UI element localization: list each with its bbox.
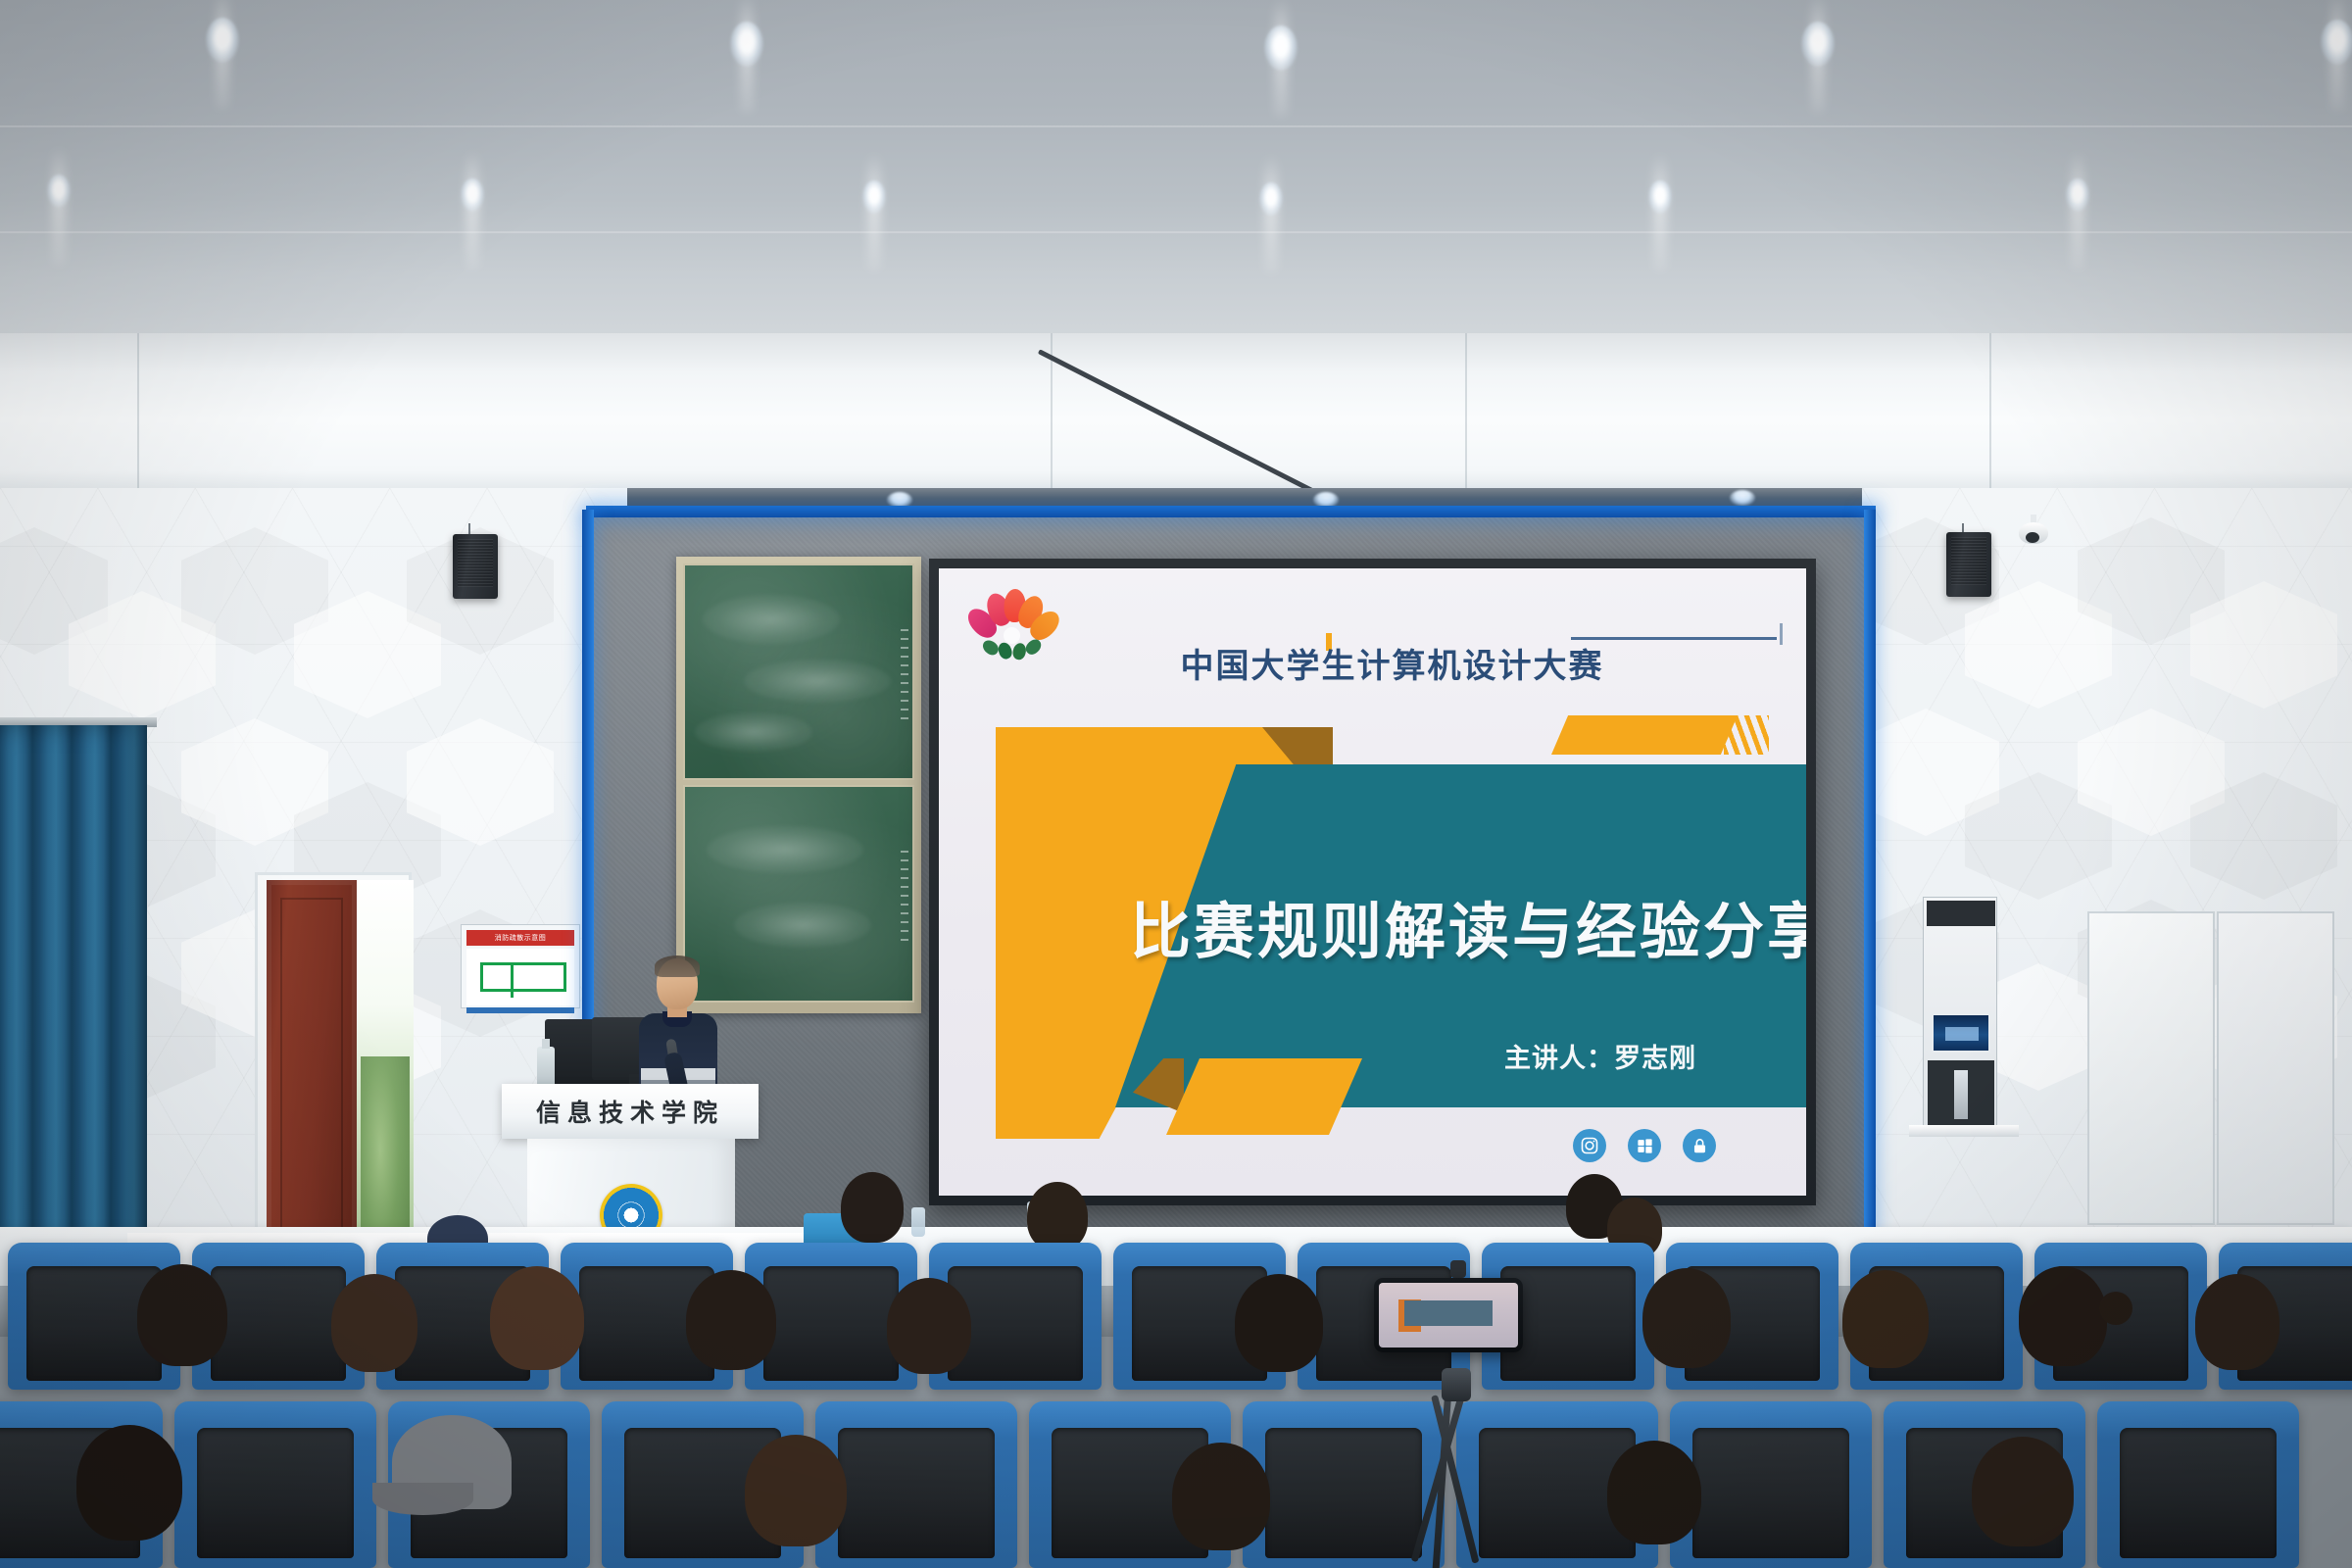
ceiling-downlight — [1264, 25, 1298, 71]
ceiling-seam — [0, 125, 2352, 127]
audience-head — [137, 1264, 227, 1366]
hand-sanitizer-bottle — [537, 1047, 555, 1086]
ceiling-downlight — [1259, 182, 1283, 216]
soffit-spotlight — [1730, 490, 1755, 506]
slide-header-title: 中国大学生计算机设计大赛 — [939, 639, 1806, 687]
lock-icon — [1683, 1129, 1716, 1162]
audience-seat[interactable] — [174, 1401, 376, 1568]
blue-window-curtain[interactable] — [0, 725, 147, 1313]
blue-led-trim-right — [1864, 510, 1876, 1235]
audience-seat[interactable] — [1243, 1401, 1445, 1568]
podium-top: 信息技术学院 — [502, 1084, 759, 1139]
slide-main-title: 比赛规则解读与经验分享 — [1130, 882, 1777, 970]
audience-head — [1607, 1441, 1701, 1544]
audience-cap — [392, 1415, 512, 1509]
ceiling-dome-camera — [2019, 522, 2048, 544]
wall-av-control-panel[interactable] — [1923, 897, 1997, 1132]
audience-seat[interactable] — [2097, 1401, 2299, 1568]
audience-head — [2019, 1266, 2107, 1366]
water-bottle — [911, 1207, 925, 1237]
chalkboard-panel-upper[interactable] — [683, 563, 914, 780]
audience-head — [1027, 1182, 1088, 1250]
evacuation-floor-plan-sign: 消防疏散示意图 — [461, 924, 580, 1008]
green-chalkboard[interactable] — [676, 557, 921, 1013]
wall-speaker-right — [1946, 532, 1991, 597]
led-presentation-screen[interactable]: 中国大学生计算机设计大赛 比赛规则解读与经验分享 主讲人：罗志刚 — [929, 559, 1816, 1205]
ceiling-downlight — [862, 180, 886, 214]
audience-head — [686, 1270, 776, 1370]
audience-head — [887, 1278, 971, 1374]
phone-mount-knob[interactable] — [1450, 1260, 1466, 1278]
ceiling-downlight — [2066, 178, 2089, 212]
audience-head — [1642, 1268, 1731, 1368]
smartphone-on-tripod[interactable] — [1374, 1278, 1523, 1352]
presentation-slide: 中国大学生计算机设计大赛 比赛规则解读与经验分享 主讲人：罗志刚 — [939, 568, 1806, 1196]
audience-hair-bun — [2099, 1292, 2132, 1325]
evac-sign-header: 消防疏散示意图 — [466, 930, 574, 946]
audience-head — [1172, 1443, 1270, 1550]
slide-icon-row — [1573, 1129, 1716, 1162]
ceiling-downlight — [461, 178, 484, 212]
audience-head — [1972, 1437, 2074, 1546]
ceiling-downlight — [730, 22, 763, 67]
panel-seam — [1465, 333, 1467, 490]
av-panel-dock[interactable] — [1928, 1060, 1994, 1129]
right-door-b[interactable] — [2217, 911, 2334, 1225]
audience-head — [76, 1425, 182, 1541]
av-panel-top — [1927, 901, 1995, 926]
wall-speaker-left — [453, 534, 498, 599]
slide-shape-orange-parallelogram — [1166, 1058, 1362, 1135]
presenter-hair — [655, 955, 700, 977]
ceiling-downlight — [206, 18, 239, 63]
ceiling — [0, 0, 2352, 343]
panel-seam — [137, 333, 139, 490]
ceiling-seam — [0, 231, 2352, 233]
ceiling-light-panel — [0, 333, 2352, 490]
slide-presenter-line: 主讲人：罗志刚 — [1504, 1037, 1696, 1075]
podium-label: 信息技术学院 — [536, 1094, 724, 1129]
audience-head — [331, 1274, 417, 1372]
ceiling-downlight — [1648, 180, 1672, 214]
tripod-head[interactable] — [1442, 1368, 1471, 1401]
blue-led-trim-top — [586, 506, 1876, 517]
panel-seam — [1989, 333, 1991, 490]
audience-head — [841, 1172, 904, 1243]
audience-head — [2195, 1274, 2279, 1370]
lecture-hall-scene: 消防疏散示意图 — [0, 0, 2352, 1568]
audience-head — [745, 1435, 847, 1546]
evac-sign-plan — [466, 949, 574, 1005]
ceiling-downlight — [1801, 22, 1835, 67]
camera-icon — [1573, 1129, 1606, 1162]
evac-sign-footer — [466, 1007, 574, 1013]
audience-head — [1235, 1274, 1323, 1372]
av-panel-display[interactable] — [1932, 1013, 1990, 1053]
windows-grid-icon — [1628, 1129, 1661, 1162]
slide-shape-orange-bar — [1551, 715, 1738, 755]
audience-head — [1842, 1270, 1929, 1368]
av-shelf — [1909, 1125, 2019, 1137]
slide-shape-orange-hatch — [1724, 715, 1769, 755]
phone-screen — [1379, 1283, 1518, 1347]
slide-header-text: 中国大学生计算机设计大赛 — [1181, 648, 1604, 685]
ceiling-downlight — [2321, 20, 2352, 65]
right-door-a[interactable] — [2087, 911, 2215, 1225]
audience-head — [490, 1266, 584, 1370]
ceiling-downlight — [47, 174, 71, 208]
